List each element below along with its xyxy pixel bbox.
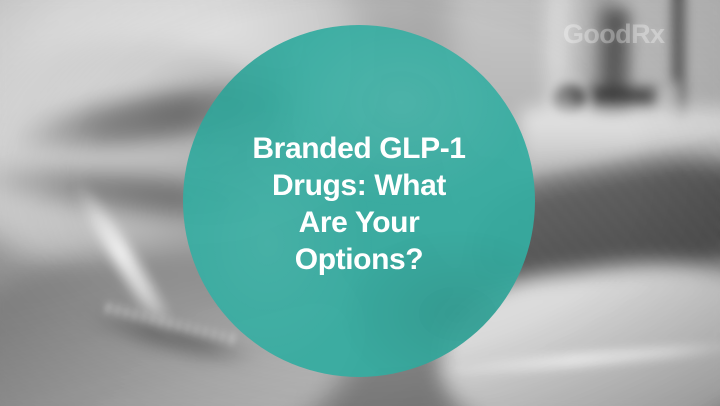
goodrx-watermark-logo: GoodRx xyxy=(563,19,664,50)
video-thumbnail[interactable]: Branded GLP-1 Drugs: What Are Your Optio… xyxy=(0,0,720,406)
video-title: Branded GLP-1 Drugs: What Are Your Optio… xyxy=(183,130,535,278)
